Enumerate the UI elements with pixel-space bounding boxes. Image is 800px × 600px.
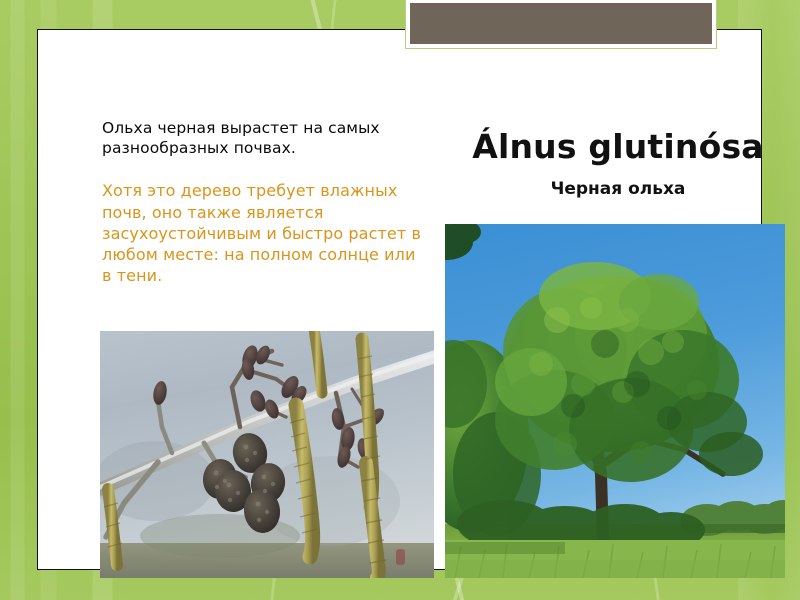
presentation-slide: Ольха черная вырастет на самых разнообра… [0,0,800,600]
heading-block: Álnus glutinósa Черная ольха [444,130,792,199]
description-paragraph: Хотя это дерево требует влажных почв, он… [102,180,422,286]
slide-content-card: Ольха черная вырастет на самых разнообра… [37,29,762,570]
photo-alder-tree [445,224,785,578]
photo-alder-branch [100,331,434,578]
common-name-subtitle: Черная ольха [444,179,792,199]
latin-name-title: Álnus glutinósa [444,130,792,165]
intro-paragraph: Ольха черная вырастет на самых разнообра… [102,118,422,158]
top-placeholder-image [406,0,716,48]
text-column: Ольха черная вырастет на самых разнообра… [102,118,422,287]
alder-tree-illustration [445,224,785,578]
alder-branch-illustration [100,331,434,578]
